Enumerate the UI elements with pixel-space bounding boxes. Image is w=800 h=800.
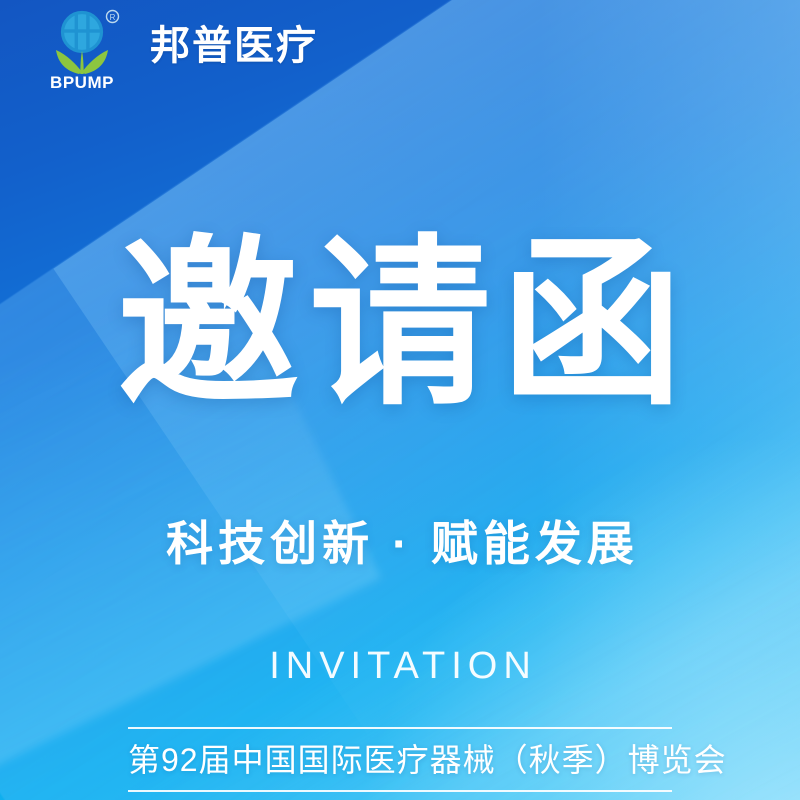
svg-text:R: R (110, 13, 116, 22)
page-title: 邀请函 (0, 232, 800, 418)
event-name: 第92届中国国际医疗器械（秋季）博览会 (128, 729, 672, 790)
page-subtitle: 科技创新 · 赋能发展 (0, 505, 800, 574)
company-name: 邦普医疗 (150, 26, 318, 66)
invitation-english-label: INVITATION (0, 645, 800, 688)
logo-wordmark: BPUMP (50, 73, 114, 90)
brand-header: R BPUMP 邦普医疗 (46, 8, 318, 90)
footer-rule-bottom (128, 790, 672, 792)
poster-content: 邀请函 科技创新 · 赋能发展 INVITATION (0, 0, 800, 800)
invitation-poster: R BPUMP 邦普医疗 邀请函 科技创新 · 赋能发展 INVITATION … (0, 0, 800, 800)
footer-block: 第92届中国国际医疗器械（秋季）博览会 (128, 727, 672, 792)
bpump-globe-leaf-logo-icon: R BPUMP (46, 8, 132, 90)
